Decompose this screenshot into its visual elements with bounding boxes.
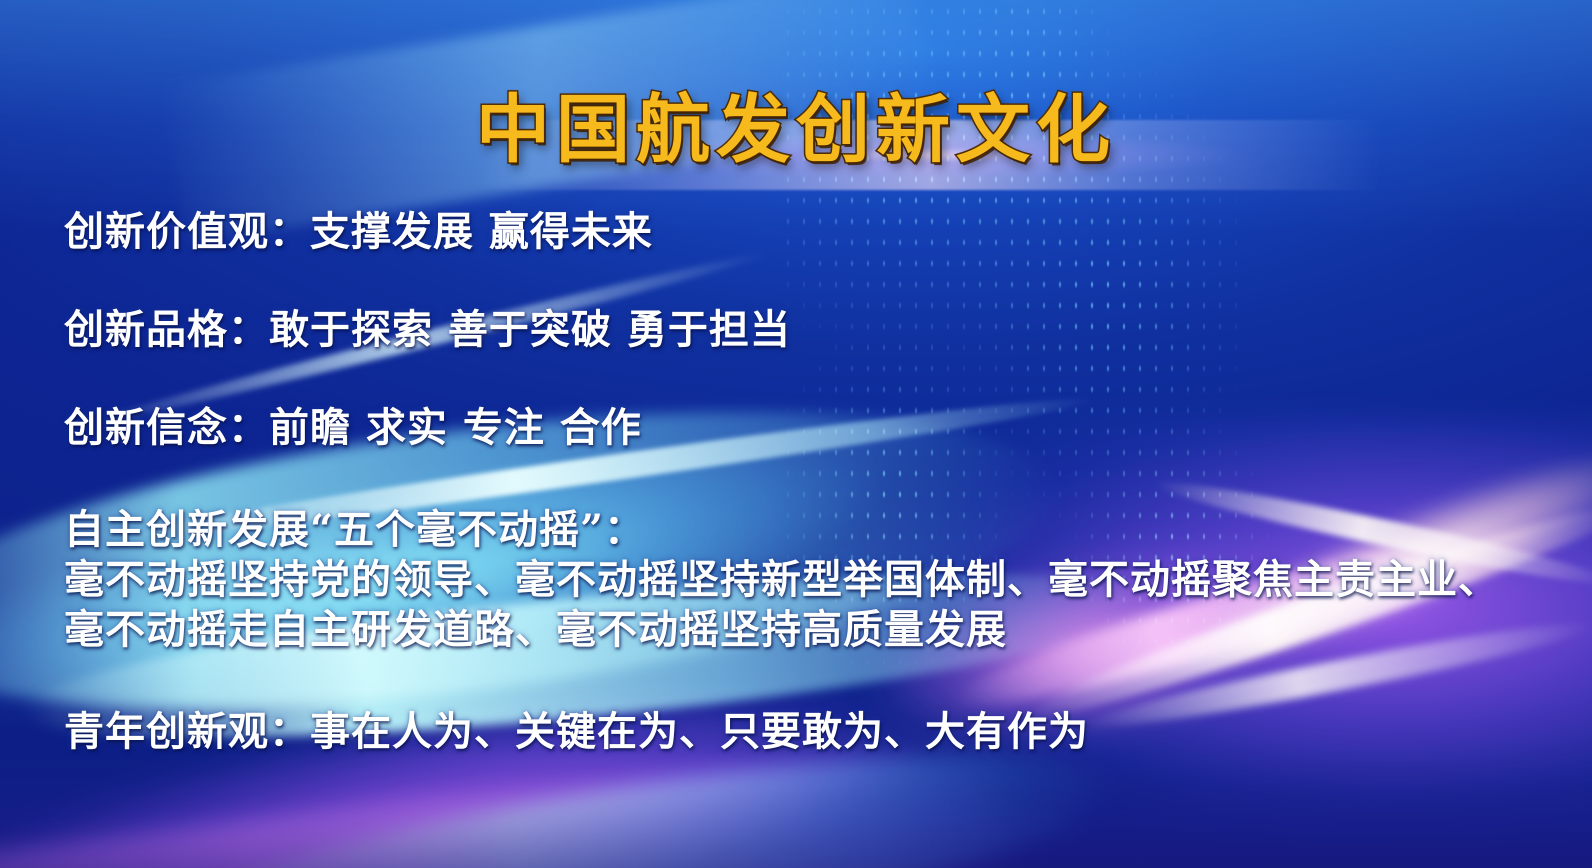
- slide-body: 创新价值观：支撑发展 赢得未来 创新品格：敢于探索 善于突破 勇于担当 创新信念…: [64, 212, 1564, 752]
- bottom-vignette: [0, 758, 1592, 868]
- text-line-character: 创新品格：敢于探索 善于突破 勇于担当: [64, 310, 1564, 350]
- text-line-five-heading: 自主创新发展“五个毫不动摇”：: [64, 510, 1564, 550]
- spacer: [64, 448, 1564, 510]
- spacer: [64, 252, 1564, 310]
- text-line-five-body-2: 毫不动摇走自主研发道路、毫不动摇坚持高质量发展: [64, 610, 1564, 650]
- spacer: [64, 350, 1564, 408]
- presentation-slide: 中国航发创新文化 创新价值观：支撑发展 赢得未来 创新品格：敢于探索 善于突破 …: [0, 0, 1592, 868]
- text-line-belief: 创新信念：前瞻 求实 专注 合作: [64, 408, 1564, 448]
- slide-title: 中国航发创新文化: [476, 92, 1116, 170]
- text-line-youth-view: 青年创新观：事在人为、关键在为、只要敢为、大有作为: [64, 712, 1564, 752]
- text-line-five-body-1: 毫不动摇坚持党的领导、毫不动摇坚持新型举国体制、毫不动摇聚焦主责主业、: [64, 560, 1564, 600]
- slide-title-container: 中国航发创新文化: [0, 42, 1592, 219]
- spacer: [64, 650, 1564, 712]
